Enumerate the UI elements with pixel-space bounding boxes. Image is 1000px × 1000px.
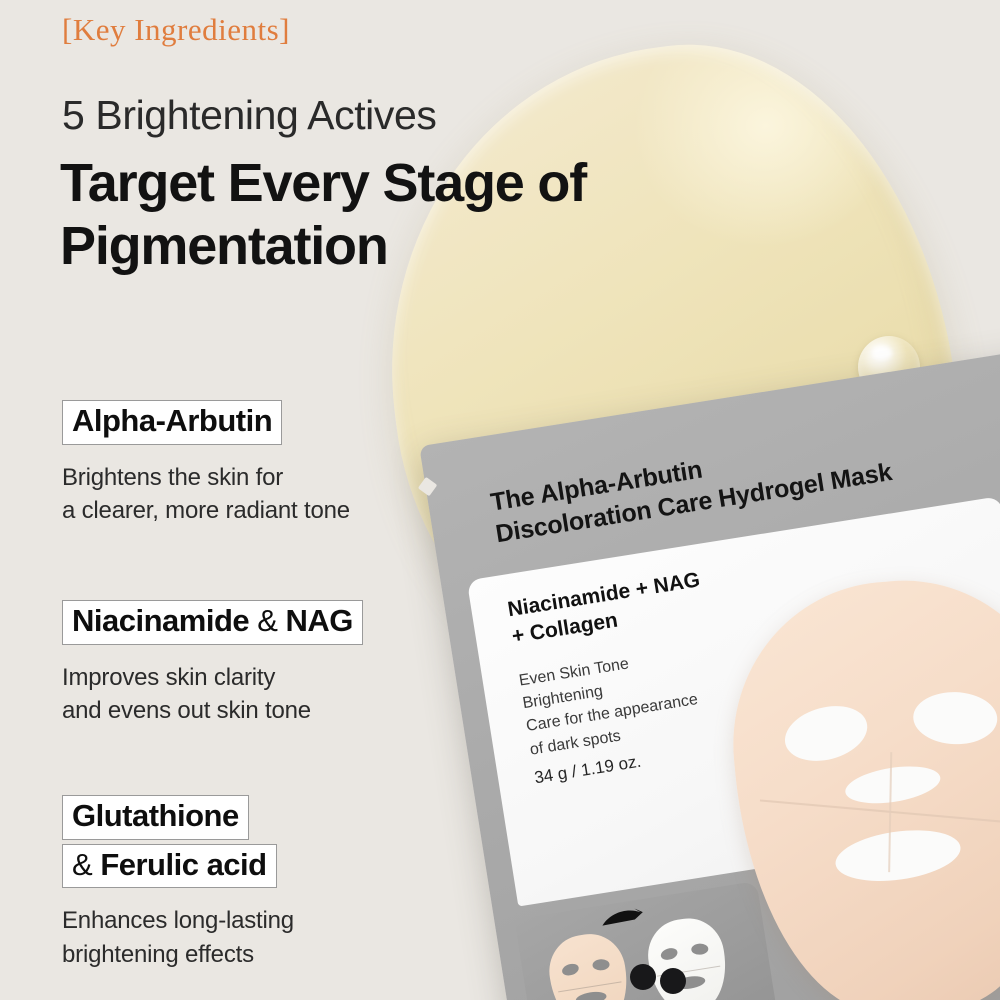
mask-illustration-tinted — [544, 929, 633, 1000]
ingredient-description: Enhances long-lasting brightening effect… — [62, 904, 294, 971]
chip-part-post: Ferulic acid — [100, 847, 266, 882]
ingredient-name-chip: & Ferulic acid — [62, 844, 277, 889]
chip-part-amp: & — [249, 603, 285, 638]
promo-image: The Alpha-Arbutin Discoloration Care Hyd… — [0, 0, 1000, 1000]
ingredient-name-chip: Alpha-Arbutin — [62, 400, 282, 445]
ingredient-block-glutathione-ferulic: Glutathione & Ferulic acid Enhances long… — [62, 795, 294, 971]
ingredient-description: Improves skin clarity and evens out skin… — [62, 661, 363, 728]
chip-part-pre: Niacinamide — [72, 603, 249, 638]
page-title: Target Every Stage of Pigmentation — [60, 152, 740, 277]
chip-part-post: NAG — [286, 603, 353, 638]
headline-line1: Target Every Stage of — [60, 152, 740, 215]
hydrogel-mask-sheet — [720, 567, 1000, 1000]
ingredient-block-niacinamide-nag: Niacinamide & NAG Improves skin clarity … — [62, 600, 363, 728]
chip-part-pre: & — [72, 847, 92, 882]
description-line: Enhances long-lasting — [62, 904, 294, 938]
description-line: a clearer, more radiant tone — [62, 494, 350, 528]
ingredient-name-chip: Glutathione — [62, 795, 249, 840]
description-line: and evens out skin tone — [62, 694, 363, 728]
eyebrow-label: [Key Ingredients] — [62, 12, 290, 48]
description-line: Improves skin clarity — [62, 661, 363, 695]
curved-arrow-icon — [598, 903, 649, 932]
headline-line2: Pigmentation — [60, 215, 740, 278]
ingredient-block-alpha-arbutin: Alpha-Arbutin Brightens the skin for a c… — [62, 400, 350, 528]
description-line: Brightens the skin for — [62, 461, 350, 495]
bottom-cropped-detail — [630, 958, 720, 1000]
subheadline: 5 Brightening Actives — [62, 92, 437, 139]
description-line: brightening effects — [62, 938, 294, 972]
product-sachet: The Alpha-Arbutin Discoloration Care Hyd… — [419, 346, 1000, 1000]
ingredient-name-chip: Niacinamide & NAG — [62, 600, 363, 645]
ingredient-description: Brightens the skin for a clearer, more r… — [62, 461, 350, 528]
